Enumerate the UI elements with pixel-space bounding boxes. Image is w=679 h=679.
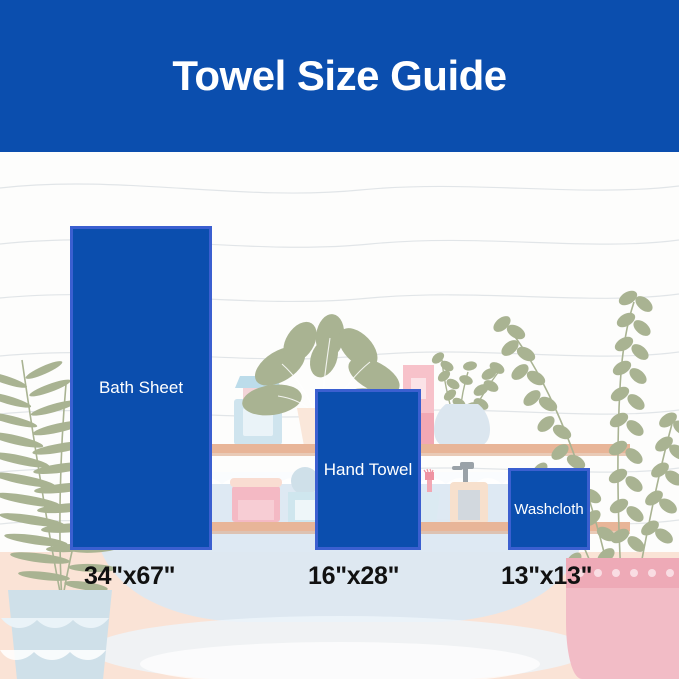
dimension-label-bath-sheet: 34"x67": [84, 562, 175, 591]
towel-swatch-bath-sheet[interactable]: Bath Sheet: [70, 226, 212, 550]
towel-label-hand-towel: Hand Towel: [324, 460, 413, 480]
header-bar: Towel Size Guide: [0, 0, 679, 152]
towel-size-guide-infographic: Towel Size Guide: [0, 0, 679, 679]
towel-label-washcloth: Washcloth: [514, 501, 583, 518]
jar-icon: [230, 478, 282, 522]
dimension-label-washcloth: 13"x13": [501, 562, 592, 591]
towel-swatch-washcloth[interactable]: Washcloth: [508, 468, 590, 550]
dimension-label-hand-towel: 16"x28": [308, 562, 399, 591]
towel-label-bath-sheet: Bath Sheet: [99, 378, 183, 398]
page-title: Towel Size Guide: [172, 52, 506, 100]
towel-swatch-hand-towel[interactable]: Hand Towel: [315, 389, 421, 550]
